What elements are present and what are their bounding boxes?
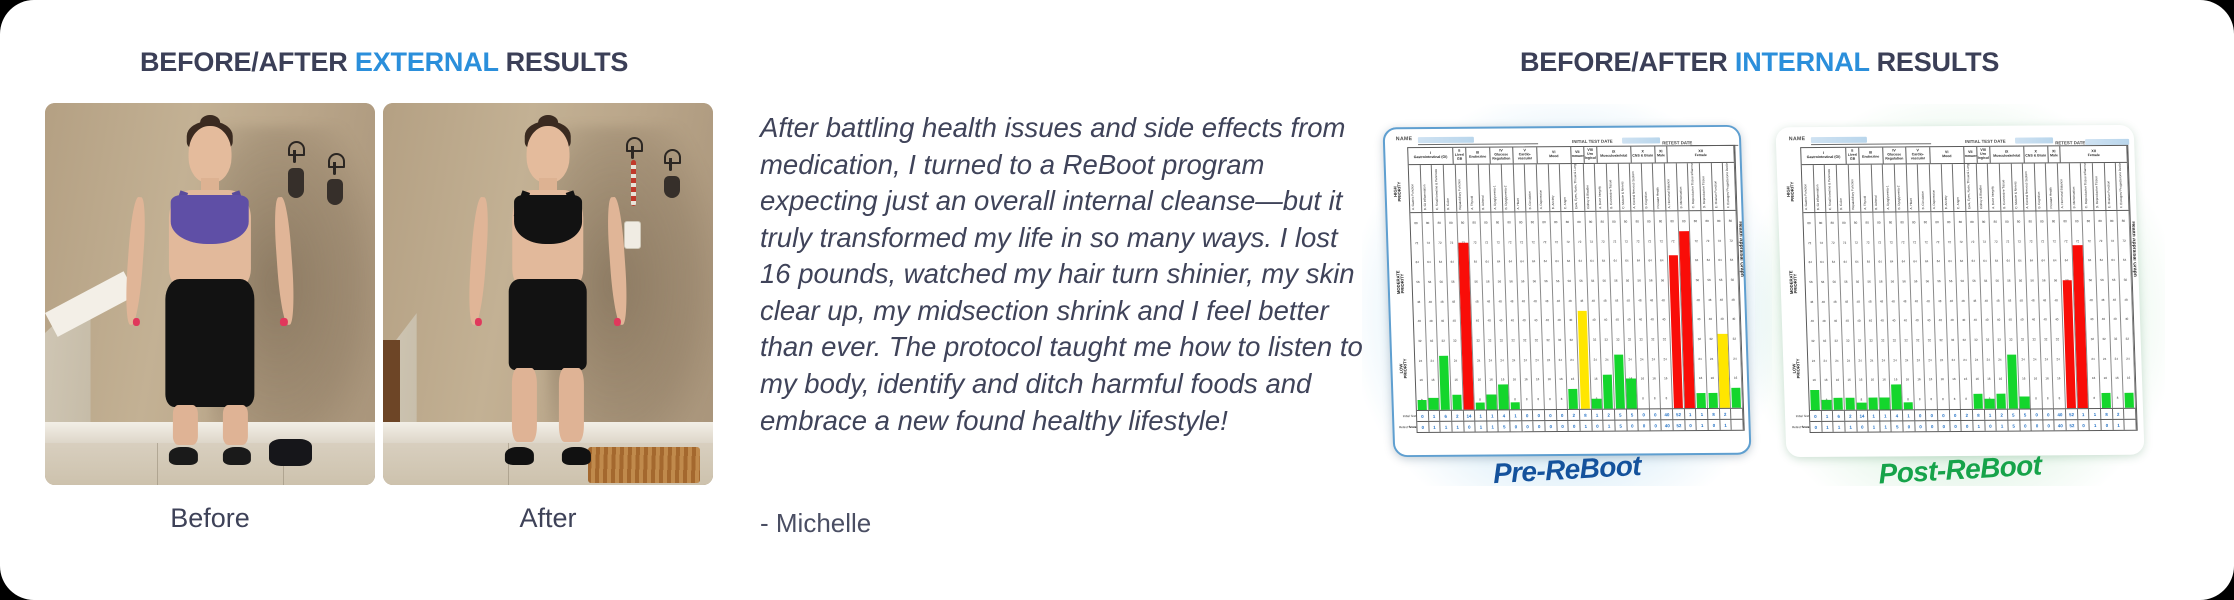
pre-reboot-chart: NAME INITIAL TEST DATE RETEST DATE HIGHP… <box>1372 120 1762 480</box>
score-cell: 0 <box>1650 420 1662 430</box>
group-header: IIIEndocrine <box>1466 148 1490 164</box>
group-header: VIIImmune <box>1964 147 1977 163</box>
keys-icon <box>664 176 680 198</box>
score-cell: 2 <box>1720 409 1732 419</box>
testimonial-author: - Michelle <box>760 508 871 539</box>
bar <box>1614 354 1625 408</box>
bar <box>1708 393 1718 408</box>
score-cell <box>2125 420 2137 430</box>
score-cell: 0 <box>2043 409 2055 419</box>
arm-right <box>272 196 296 324</box>
score-cell: 5 <box>1615 421 1627 431</box>
chart-grid: IGastrointestinal (GI)IILiver/ GBIIIEndo… <box>1407 145 1745 433</box>
bar <box>1439 356 1450 410</box>
score-cell <box>1731 409 1743 419</box>
bar <box>1985 399 1995 409</box>
score-cell: 0 <box>1522 421 1534 431</box>
score-cell: 1 <box>1868 411 1880 421</box>
keys-icon <box>327 179 343 205</box>
score-cell: 40 <box>2055 420 2067 430</box>
score-cell: 0 <box>1417 422 1429 432</box>
subcategory-header: F. Estrogen/ Progesterone Decline <box>1723 163 1736 210</box>
score-cell: 2 <box>1996 410 2008 420</box>
group-header: IGastrointestinal (GI) <box>1408 148 1454 164</box>
score-cell: 6 <box>1440 411 1452 421</box>
group-header: IVGlucose Regulation <box>1490 147 1514 163</box>
group-header: VIMood <box>1930 147 1965 163</box>
bar <box>1487 395 1497 410</box>
score-cell: 0 <box>2020 420 2032 430</box>
group-header: XCNS & Brain <box>1631 146 1655 162</box>
score-cell: 6 <box>1833 411 1845 421</box>
score-cell: 0 <box>1534 421 1546 431</box>
bar <box>1822 400 1832 410</box>
score-cell: 0 <box>1938 421 1950 431</box>
bar <box>1498 385 1508 410</box>
group-header: IXMusculoskeletal <box>1990 147 2025 163</box>
heading-internal-post: RESULTS <box>1869 47 1999 77</box>
score-cell: 2 <box>1961 410 1973 420</box>
bar <box>1857 402 1867 409</box>
bar <box>1996 394 2006 409</box>
results-card: BEFORE/AFTER EXTERNAL RESULTS BEFORE/AFT… <box>0 0 2234 600</box>
score-cell: 1 <box>1429 422 1441 432</box>
sports-bra <box>514 195 582 244</box>
group-header: VCardio-vascular <box>1906 147 1930 163</box>
retest-score-row: 01110115000000101500040520101Retest Scor… <box>1810 419 2136 432</box>
head <box>527 126 570 183</box>
score-cell: 0 <box>1915 410 1927 420</box>
score-cell: 0 <box>1638 409 1650 419</box>
bar <box>1833 397 1843 409</box>
score-cell: 0 <box>1708 420 1720 430</box>
bar <box>1510 402 1520 409</box>
score-cell: 0 <box>2078 420 2090 430</box>
score-cell: 1 <box>1510 410 1522 420</box>
score-cell: 0 <box>1950 421 1962 431</box>
score-cell: 2 <box>2113 409 2125 419</box>
score-cell: 0 <box>1685 420 1697 430</box>
group-header: IXMusculoskeletal <box>1597 147 1632 163</box>
head <box>189 126 232 183</box>
score-cell: 0 <box>1650 409 1662 419</box>
bar <box>2007 354 2018 408</box>
score-cell: 0 <box>1903 421 1915 431</box>
retest-score-label: Retest Score <box>1396 422 1416 433</box>
score-cell: 1 <box>1985 410 1997 420</box>
initial-date-redaction <box>2015 137 2053 143</box>
subcategory-header: F. Estrogen/ Progesterone Decline <box>2116 163 2129 210</box>
foot-left <box>169 447 198 465</box>
person-figure <box>459 126 637 462</box>
group-header: XIMale <box>1655 146 1668 162</box>
score-cell: 52 <box>2066 409 2078 419</box>
score-cell: 5 <box>2008 421 2020 431</box>
score-cell: 0 <box>1985 421 1997 431</box>
score-cell: 1 <box>1997 421 2009 431</box>
score-cell: 5 <box>1615 410 1627 420</box>
testimonial-quote: After battling health issues and side ef… <box>760 110 1372 439</box>
score-cell: 1 <box>1834 422 1846 432</box>
score-cell: 0 <box>1639 420 1651 430</box>
score-cell: 1 <box>1903 410 1915 420</box>
score-cell: 1 <box>1604 421 1616 431</box>
score-cell: 4 <box>1891 410 1903 420</box>
score-cell: 14 <box>1856 411 1868 421</box>
score-cell: 40 <box>1662 420 1674 430</box>
score-cell: 0 <box>1950 410 1962 420</box>
group-header: VCardio-vascular <box>1513 147 1537 163</box>
bar <box>2020 396 2030 408</box>
heading-external-pre: BEFORE/AFTER <box>140 47 355 77</box>
score-cell: 5 <box>1499 421 1511 431</box>
score-cell: 0 <box>2101 420 2113 430</box>
score-cell: 1 <box>1696 409 1708 419</box>
score-cell: 1 <box>2078 409 2090 419</box>
group-header: VIMood <box>1537 147 1572 163</box>
score-cell: 8 <box>2101 409 2113 419</box>
after-photo <box>383 103 713 485</box>
priority-band-label: MODERATEPRIORITY <box>1783 279 1804 288</box>
score-cell: 5 <box>2019 409 2031 419</box>
score-cell: 1 <box>1685 409 1697 419</box>
bar <box>1880 397 1890 409</box>
score-cell: 0 <box>1545 410 1557 420</box>
score-cell: 2 <box>1603 410 1615 420</box>
plot-area: 8072645648403224168807264564840322416880… <box>1803 211 2136 410</box>
retest-score-label: Retest Score <box>1789 422 1809 433</box>
score-cell: 1 <box>1452 422 1464 432</box>
bar <box>1973 394 1983 409</box>
sheet-inner: NAME INITIAL TEST DATE RETEST DATE HIGHP… <box>1385 127 1750 455</box>
score-cell: 0 <box>1522 410 1534 420</box>
score-cell: 52 <box>1673 409 1685 419</box>
group-header: XCNS & Brain <box>2024 146 2048 162</box>
heart-hook-icon <box>326 153 344 175</box>
score-cell: 0 <box>1510 421 1522 431</box>
arm-right <box>605 196 629 324</box>
priority-band-label: LOWPRIORITY <box>1786 364 1807 373</box>
priority-band-label: HIGHPRIORITY <box>1780 187 1801 196</box>
score-cell: 0 <box>1962 421 1974 431</box>
photo-bag <box>269 439 312 466</box>
leggings <box>165 279 254 407</box>
bar <box>1903 402 1913 409</box>
score-cell: 0 <box>1569 421 1581 431</box>
score-cell: 0 <box>1857 422 1869 432</box>
after-photo-caption: After <box>383 503 713 534</box>
hand-right <box>614 318 621 327</box>
score-cell: 1 <box>1845 422 1857 432</box>
bar <box>1592 399 1602 409</box>
heading-internal-accent: INTERNAL <box>1735 47 1869 77</box>
group-header: IIIEndocrine <box>1859 148 1883 164</box>
score-cell: 1 <box>1475 411 1487 421</box>
score-cell: 0 <box>1417 411 1429 421</box>
score-cell: 1 <box>1822 422 1834 432</box>
score-cell: 0 <box>1810 422 1822 432</box>
leg-right <box>559 368 584 442</box>
leg-right <box>222 405 247 445</box>
before-photo-caption: Before <box>45 503 375 534</box>
score-cell: 1 <box>2089 409 2101 419</box>
score-cell: 8 <box>1580 410 1592 420</box>
score-cell: 1 <box>1720 420 1732 430</box>
score-cell: 1 <box>1580 421 1592 431</box>
sports-bra <box>171 195 249 244</box>
name-redaction <box>1418 137 1474 143</box>
subcategory-header-row: A. Gastric FunctionB. GI InflammationC. … <box>1802 163 2130 213</box>
score-cell: 0 <box>1938 410 1950 420</box>
score-cell: 1 <box>1973 421 1985 431</box>
bar <box>1429 398 1439 410</box>
retest-score-row: 01110115000000101500040520101Retest Scor… <box>1417 419 1743 432</box>
score-cell: 1 <box>1487 410 1499 420</box>
score-cell: 0 <box>1592 421 1604 431</box>
score-cell: 0 <box>1545 421 1557 431</box>
group-header: VIIIUro logical <box>1584 147 1597 163</box>
score-cell: 40 <box>2054 409 2066 419</box>
score-cell: 0 <box>1627 420 1639 430</box>
score-cell: 8 <box>1973 410 1985 420</box>
score-cell: 8 <box>1708 409 1720 419</box>
group-header: IGastrointestinal (GI) <box>1801 148 1847 164</box>
bar <box>1568 389 1578 409</box>
sheet-inner: NAME INITIAL TEST DATE RETEST DATE HIGHP… <box>1778 127 2143 455</box>
priority-band-label: HIGHPRIORITY <box>1387 187 1408 196</box>
heart-hook-icon <box>662 149 680 171</box>
heading-external-accent: EXTERNAL <box>355 47 498 77</box>
hand-right <box>280 318 287 327</box>
chart-vertical-title: Health Appraisal Graph <box>1737 221 1745 276</box>
subcategory-header-row: A. Gastric FunctionB. GI InflammationC. … <box>1409 163 1737 213</box>
bar <box>1603 374 1614 409</box>
page-title-external: BEFORE/AFTER EXTERNAL RESULTS <box>140 47 628 78</box>
bike-shorts <box>509 279 587 370</box>
score-cell <box>1732 420 1744 430</box>
health-appraisal-sheet: NAME INITIAL TEST DATE RETEST DATE HIGHP… <box>1775 125 2144 457</box>
score-cell: 1 <box>1697 420 1709 430</box>
group-header: XIIFemale <box>1668 146 1735 162</box>
score-cell: 2 <box>1568 410 1580 420</box>
score-cell: 52 <box>2066 420 2078 430</box>
arm-left <box>124 196 148 324</box>
score-cell: 14 <box>1463 411 1475 421</box>
score-cell: 1 <box>1475 422 1487 432</box>
score-cell: 0 <box>1915 421 1927 431</box>
score-cell: 1 <box>2090 420 2102 430</box>
chart-vertical-title: Health Appraisal Graph <box>2130 221 2138 276</box>
health-appraisal-sheet: NAME INITIAL TEST DATE RETEST DATE HIGHP… <box>1382 125 1751 457</box>
leg-left <box>512 368 537 442</box>
score-cell: 0 <box>1926 410 1938 420</box>
name-label: NAME <box>1396 136 1413 142</box>
initial-date-redaction <box>1622 137 1660 143</box>
chart-grid: IGastrointestinal (GI)IILiver/ GBIIIEndo… <box>1800 145 2138 433</box>
priority-band-label: LOWPRIORITY <box>1393 364 1414 373</box>
score-cell: 2 <box>1845 411 1857 421</box>
bar <box>1475 402 1485 409</box>
bar <box>1696 393 1706 408</box>
bar <box>1810 390 1820 410</box>
bar <box>1868 397 1878 409</box>
group-header: XIIFemale <box>2061 146 2128 162</box>
heading-internal-pre: BEFORE/AFTER <box>1520 47 1735 77</box>
score-cell: 5 <box>1626 409 1638 419</box>
score-cell: 0 <box>2032 420 2044 430</box>
group-header: IILiver/ GB <box>1453 148 1466 164</box>
shoe-right <box>562 447 591 465</box>
score-cell: 0 <box>1927 421 1939 431</box>
group-header: XIMale <box>2048 146 2061 162</box>
score-cell: 4 <box>1498 410 1510 420</box>
page-title-internal: BEFORE/AFTER INTERNAL RESULTS <box>1520 47 1999 78</box>
score-cell: 1 <box>1880 421 1892 431</box>
score-cell: 1 <box>1429 411 1441 421</box>
score-cell: 0 <box>1810 411 1822 421</box>
bar <box>1626 379 1636 409</box>
score-cell: 5 <box>1892 421 1904 431</box>
bar <box>2124 393 2134 408</box>
bar <box>1452 395 1462 410</box>
bar <box>1891 385 1901 410</box>
priority-band-label: MODERATEPRIORITY <box>1390 279 1411 288</box>
initial-test-date-label: INITIAL TEST DATE <box>1572 139 1613 144</box>
group-header: VIIImmune <box>1571 147 1584 163</box>
score-cell: 5 <box>2008 410 2020 420</box>
score-cell: 0 <box>2031 409 2043 419</box>
name-redaction <box>1811 137 1867 143</box>
score-cell: 1 <box>1868 422 1880 432</box>
post-reboot-chart: NAME INITIAL TEST DATE RETEST DATE HIGHP… <box>1765 120 2155 480</box>
score-cell: 0 <box>1464 422 1476 432</box>
hand-left <box>132 318 139 327</box>
score-cell: 0 <box>1557 421 1569 431</box>
name-rule <box>1811 143 1931 145</box>
group-header: VIIIUro logical <box>1977 147 1990 163</box>
leg-left <box>173 405 198 445</box>
score-cell: 1 <box>1441 422 1453 432</box>
score-cell <box>2124 409 2136 419</box>
score-cell: 0 <box>1533 410 1545 420</box>
bar <box>1845 397 1855 409</box>
shoe-left <box>505 447 534 465</box>
score-cell: 0 <box>1557 410 1569 420</box>
bar <box>2101 393 2111 408</box>
score-cell: 1 <box>1880 410 1892 420</box>
initial-test-date-label: INITIAL TEST DATE <box>1965 139 2006 144</box>
score-cell: 2 <box>1452 411 1464 421</box>
plot-area: 8072645648403224168807264564840322416880… <box>1410 211 1743 410</box>
group-header: IVGlucose Regulation <box>1883 147 1907 163</box>
heading-external-post: RESULTS <box>498 47 628 77</box>
score-cell: 1 <box>1487 421 1499 431</box>
person-figure <box>121 126 299 462</box>
arm-left <box>467 196 491 324</box>
name-rule <box>1418 143 1538 145</box>
foot-right <box>222 447 251 465</box>
bar <box>1731 388 1741 408</box>
score-cell: 1 <box>1822 411 1834 421</box>
bar <box>1417 400 1427 410</box>
hand-left <box>475 318 482 327</box>
score-cell: 0 <box>2043 420 2055 430</box>
score-cell: 52 <box>1673 420 1685 430</box>
group-header: IILiver/ GB <box>1846 148 1859 164</box>
name-label: NAME <box>1789 136 1806 142</box>
score-cell: 40 <box>1661 409 1673 419</box>
score-cell: 1 <box>2113 420 2125 430</box>
score-cell: 1 <box>1592 410 1604 420</box>
before-photo <box>45 103 375 485</box>
